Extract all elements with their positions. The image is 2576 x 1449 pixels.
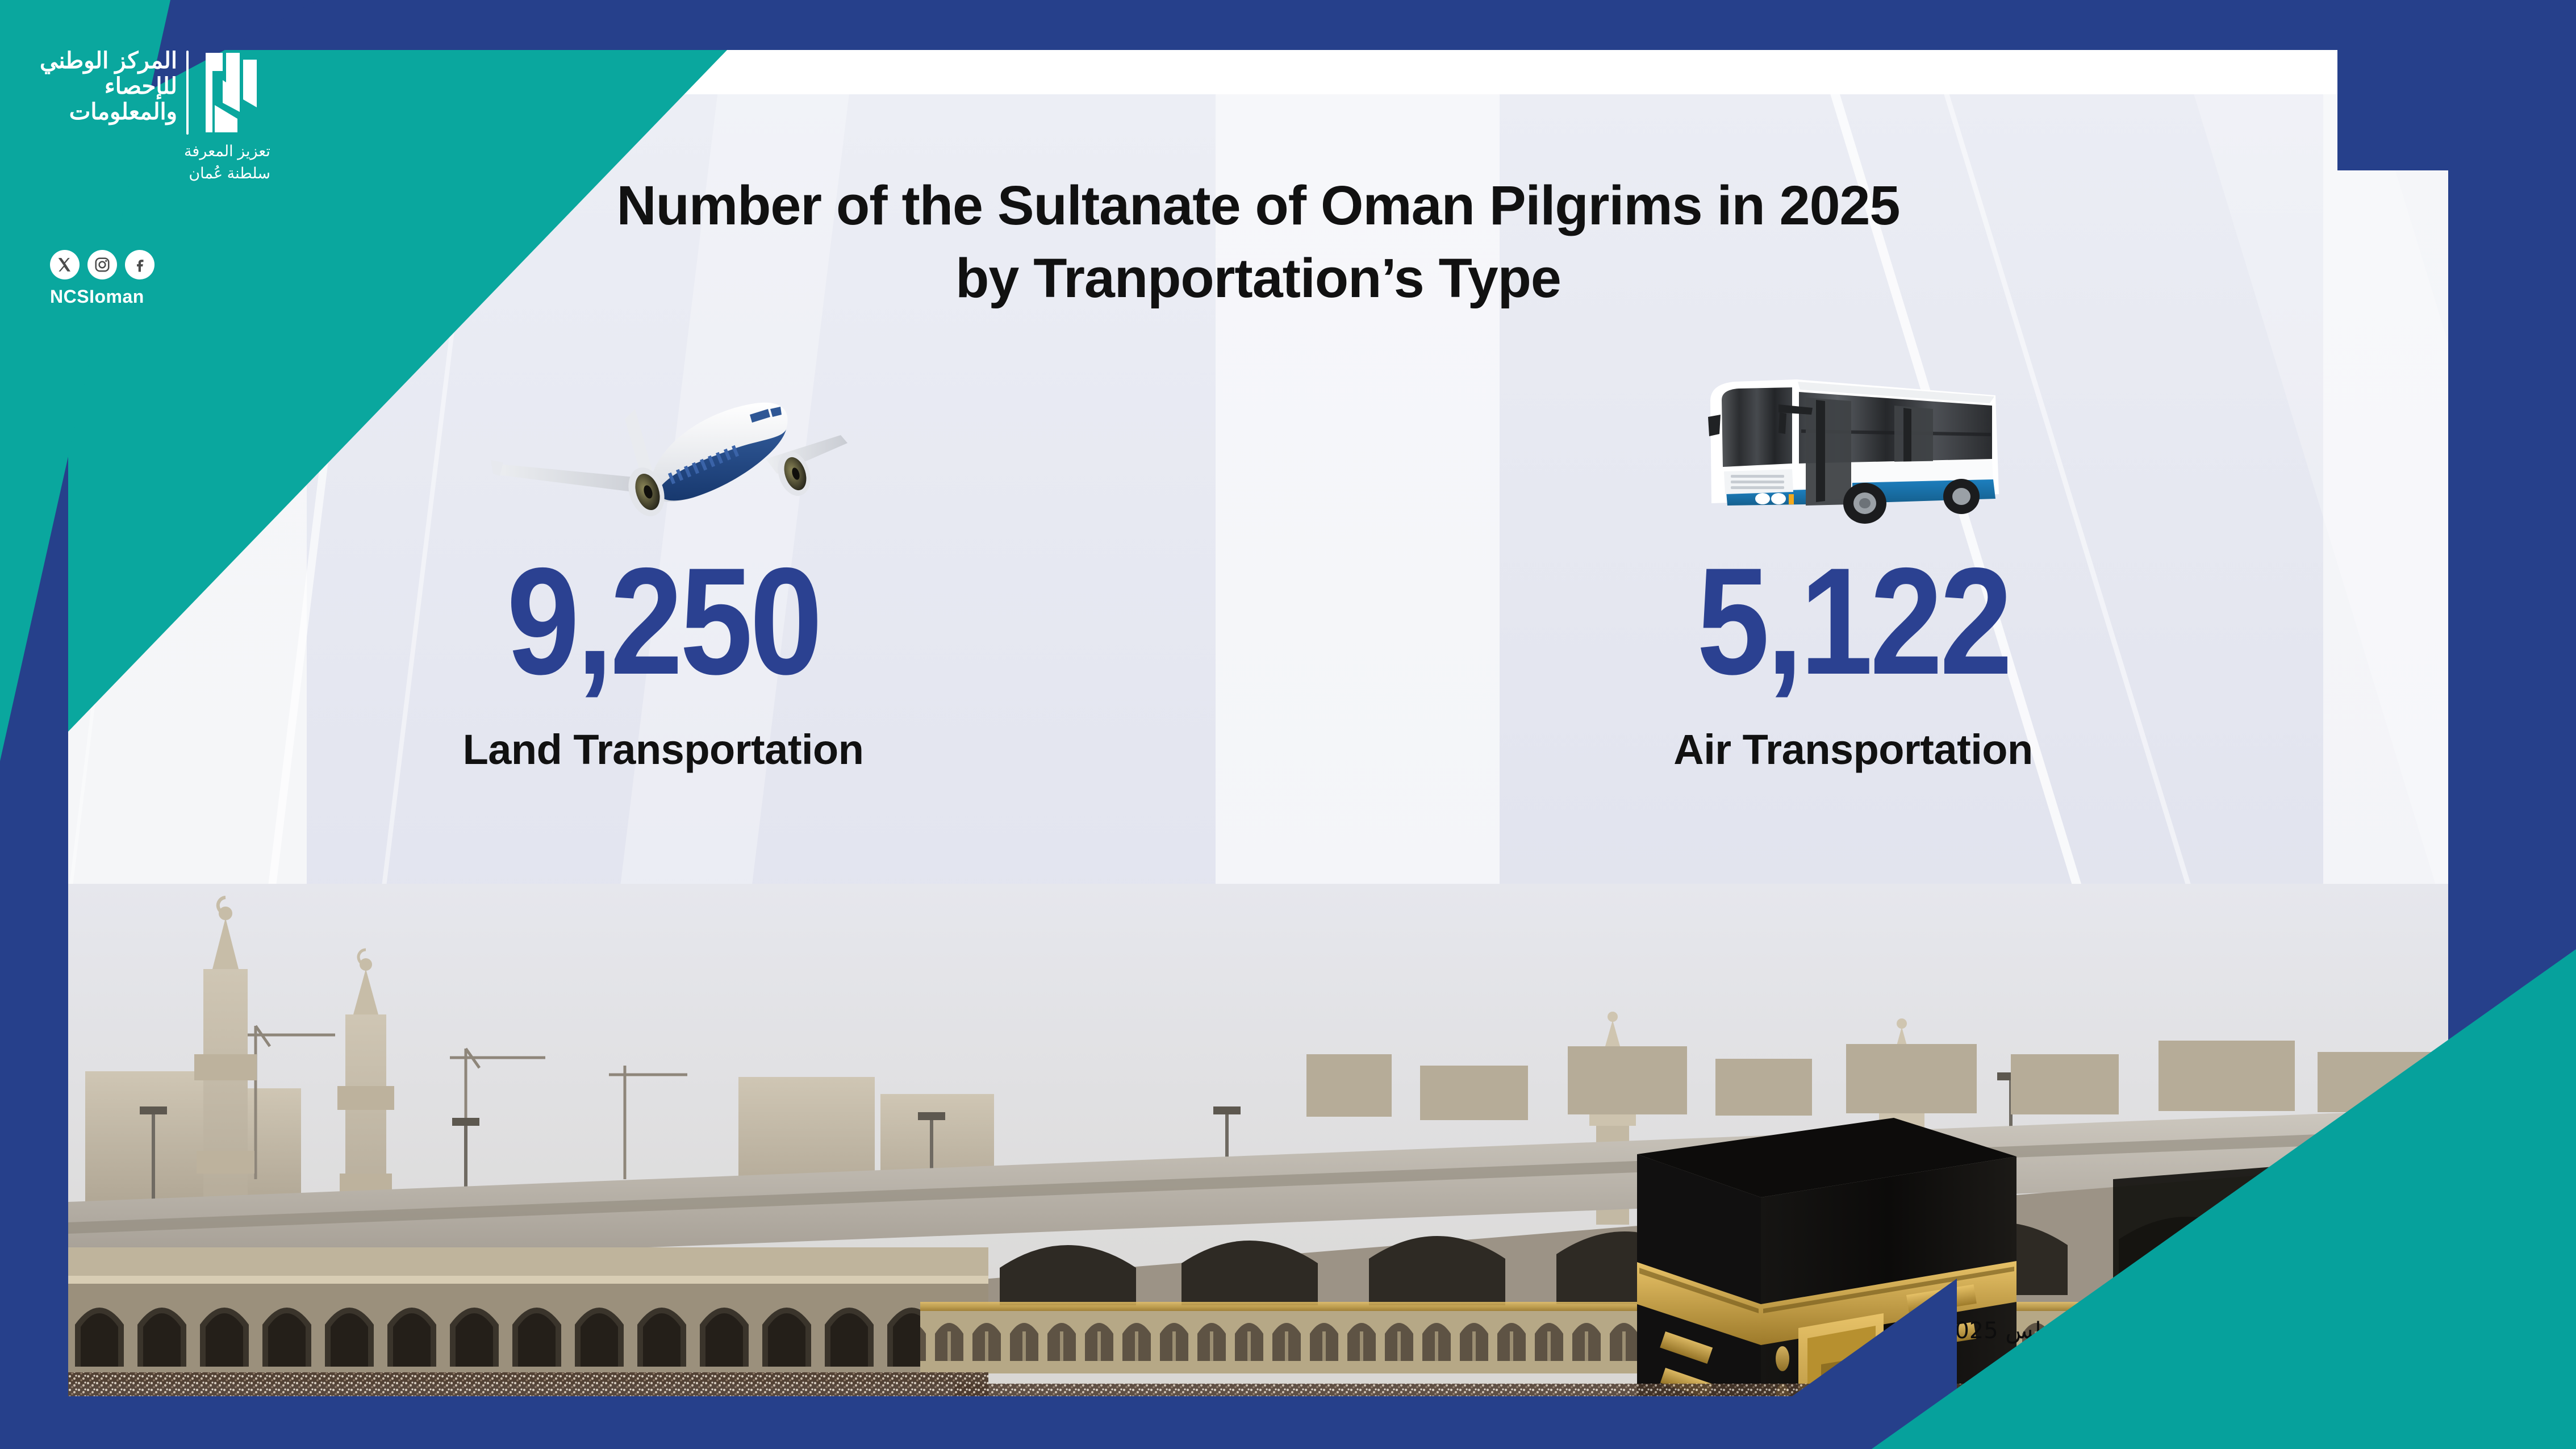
social-handle: NCSIoman <box>50 286 155 307</box>
stat-land-transportation: 9,250 Land Transportation <box>68 345 1258 774</box>
instagram-icon[interactable] <box>87 250 117 279</box>
x-twitter-icon[interactable] <box>50 250 80 279</box>
facebook-icon[interactable] <box>125 250 155 279</box>
stat-label: Air Transportation <box>1258 725 2448 774</box>
logo-tagline: تعزيز المعرفة <box>40 143 270 160</box>
logo-country: سلطنة عُمان <box>40 165 270 182</box>
stat-value: 9,250 <box>152 549 1175 694</box>
bus-icon <box>1258 345 2448 533</box>
stats-row: 9,250 Land Transportation <box>68 345 2448 774</box>
infographic-canvas: المصدر: النشرة الإحصائية الشهرية أغسطس 2… <box>0 0 2576 1449</box>
page-title: Number of the Sultanate of Oman Pilgrims… <box>68 169 2448 315</box>
stat-label: Land Transportation <box>68 725 1258 774</box>
stat-air-transportation: 5,122 Air Transportation <box>1258 345 2448 774</box>
ncsi-logo[interactable]: المركز الوطني للإحصاء والمعلومات تعزيز ا… <box>40 48 270 182</box>
content-card: المصدر: النشرة الإحصائية الشهرية أغسطس 2… <box>68 50 2448 1396</box>
title-line-1: Number of the Sultanate of Oman Pilgrims… <box>68 169 2448 242</box>
title-line-2: by Tranportation’s Type <box>68 242 2448 315</box>
logo-wordmark: المركز الوطني للإحصاء والمعلومات <box>40 48 177 124</box>
logo-line-2: للإحصاء <box>40 74 177 99</box>
airplane-icon <box>68 345 1258 533</box>
social-block: NCSIoman <box>50 250 155 307</box>
stat-value: 5,122 <box>1342 549 2365 694</box>
logo-line-3: والمعلومات <box>40 99 177 125</box>
social-icons <box>50 250 155 279</box>
logo-line-1: المركز الوطني <box>40 48 177 74</box>
logo-divider-rule <box>186 51 189 135</box>
logo-mark-icon <box>198 48 270 135</box>
corner-blue-top-right <box>2337 0 2576 170</box>
